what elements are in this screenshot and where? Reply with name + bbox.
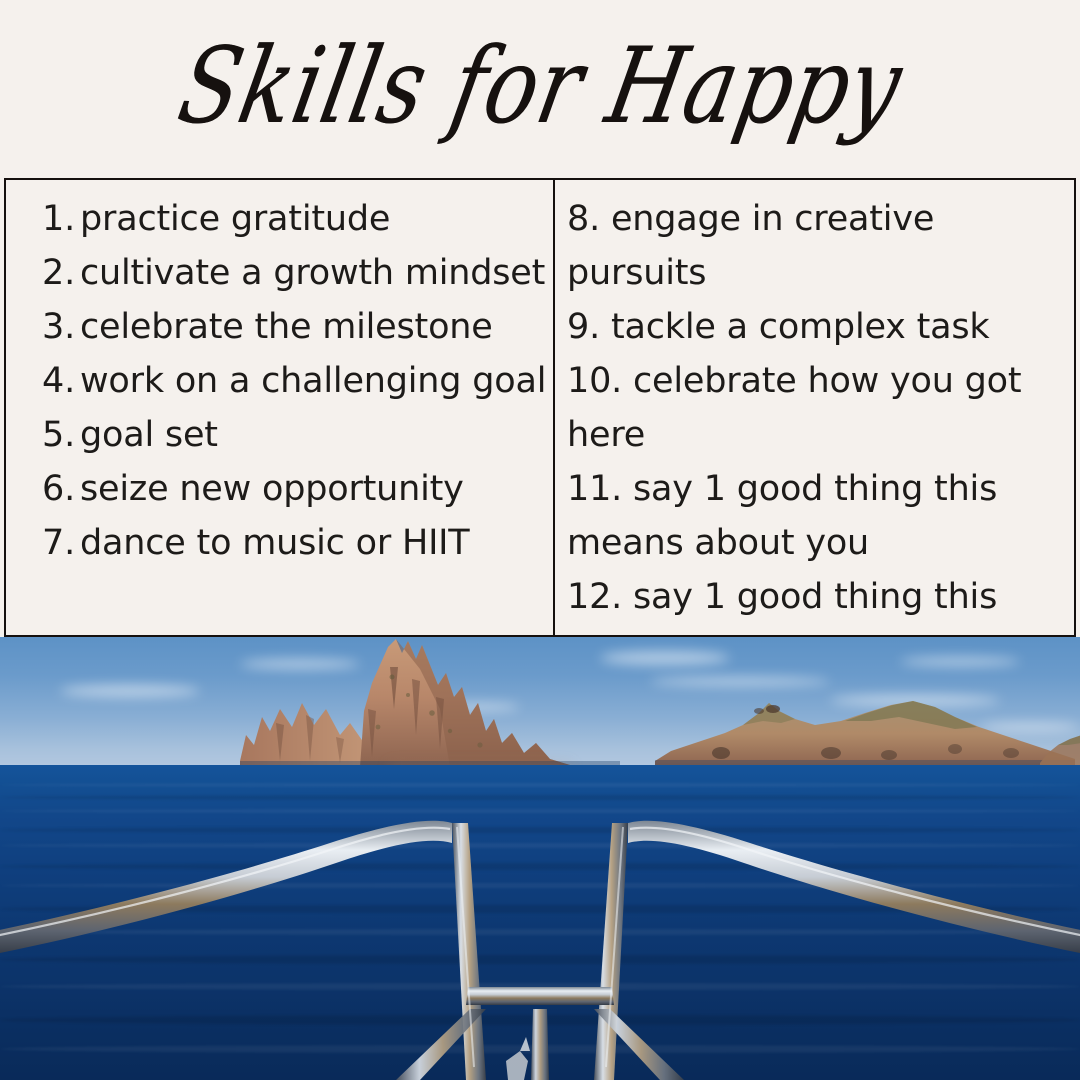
list-item-label: say 1 good thing this means for your fut… — [567, 577, 997, 635]
list-item-label: celebrate the milestone — [80, 300, 547, 354]
wave — [0, 983, 1080, 990]
ocean-photo — [0, 637, 1080, 1080]
wave — [0, 809, 1080, 813]
list-item-label: tackle a complex task — [611, 307, 990, 347]
list-item: 3. celebrate the milestone — [42, 300, 547, 354]
list-item-label: engage in creative pursuits — [567, 199, 934, 293]
wave — [0, 929, 1080, 935]
wave — [0, 783, 1080, 787]
title-area: Skills for Happy — [0, 0, 1080, 178]
list-item: 12. say 1 good thing this means for your… — [567, 570, 1068, 635]
list-item-label: dance to music or HIIT — [80, 516, 547, 570]
wave — [0, 827, 1080, 833]
list-item-label: celebrate how you got here — [567, 361, 1021, 455]
wave — [0, 1045, 1080, 1053]
skills-list-right: 8. engage in creative pursuits 9. tackle… — [567, 192, 1068, 635]
page-title: Skills for Happy — [171, 34, 909, 139]
list-item: 10. celebrate how you got here — [567, 354, 1068, 462]
list-item-label: cultivate a growth mindset — [80, 246, 547, 300]
list-item-label: say 1 good thing this means about you — [567, 469, 997, 563]
wave — [0, 1015, 1080, 1025]
poster-canvas: Skills for Happy 1. practice gratitude 2… — [0, 0, 1080, 1080]
cloud — [900, 657, 1020, 666]
skills-list-left: 1. practice gratitude 2. cultivate a gro… — [42, 192, 547, 570]
wave — [0, 905, 1080, 913]
list-item: 11. say 1 good thing this means about yo… — [567, 462, 1068, 570]
cloud — [650, 677, 830, 686]
list-item-label: goal set — [80, 408, 547, 462]
list-item: 9. tackle a complex task — [567, 300, 1068, 354]
list-item: 5. goal set — [42, 408, 547, 462]
wave — [0, 883, 1080, 888]
list-item-number: 2. — [42, 246, 80, 300]
list-item: 6. seize new opportunity — [42, 462, 547, 516]
list-item: 8. engage in creative pursuits — [567, 192, 1068, 300]
list-item-number: 10. — [567, 361, 622, 401]
list-item-number: 12. — [567, 577, 622, 617]
wave — [0, 955, 1080, 964]
list-item-number: 4. — [42, 354, 80, 408]
list-item: 2. cultivate a growth mindset — [42, 246, 547, 300]
list-item-label: seize new opportunity — [80, 462, 547, 516]
rock-formation-far-right — [1040, 733, 1080, 767]
rock-formation-right — [655, 697, 1075, 767]
list-item-number: 9. — [567, 307, 600, 347]
list-item-number: 11. — [567, 469, 622, 509]
list-item-number: 3. — [42, 300, 80, 354]
wave — [0, 795, 1080, 800]
list-item: 7. dance to music or HIIT — [42, 516, 547, 570]
list-item: 1. practice gratitude — [42, 192, 547, 246]
wave — [0, 843, 1080, 848]
rock-formation-left — [240, 639, 620, 767]
skills-list-table: 1. practice gratitude 2. cultivate a gro… — [4, 178, 1076, 637]
list-item-number: 6. — [42, 462, 80, 516]
wave — [0, 863, 1080, 870]
cloud — [60, 685, 200, 697]
list-item-label: practice gratitude — [80, 192, 547, 246]
list-item-number: 1. — [42, 192, 80, 246]
skills-list-right-column: 8. engage in creative pursuits 9. tackle… — [555, 180, 1074, 635]
list-item-label: work on a challenging goal — [80, 354, 547, 408]
list-item: 4. work on a challenging goal — [42, 354, 547, 408]
list-item-number: 5. — [42, 408, 80, 462]
list-item-number: 8. — [567, 199, 600, 239]
skills-list-left-column: 1. practice gratitude 2. cultivate a gro… — [6, 180, 555, 635]
list-item-number: 7. — [42, 516, 80, 570]
